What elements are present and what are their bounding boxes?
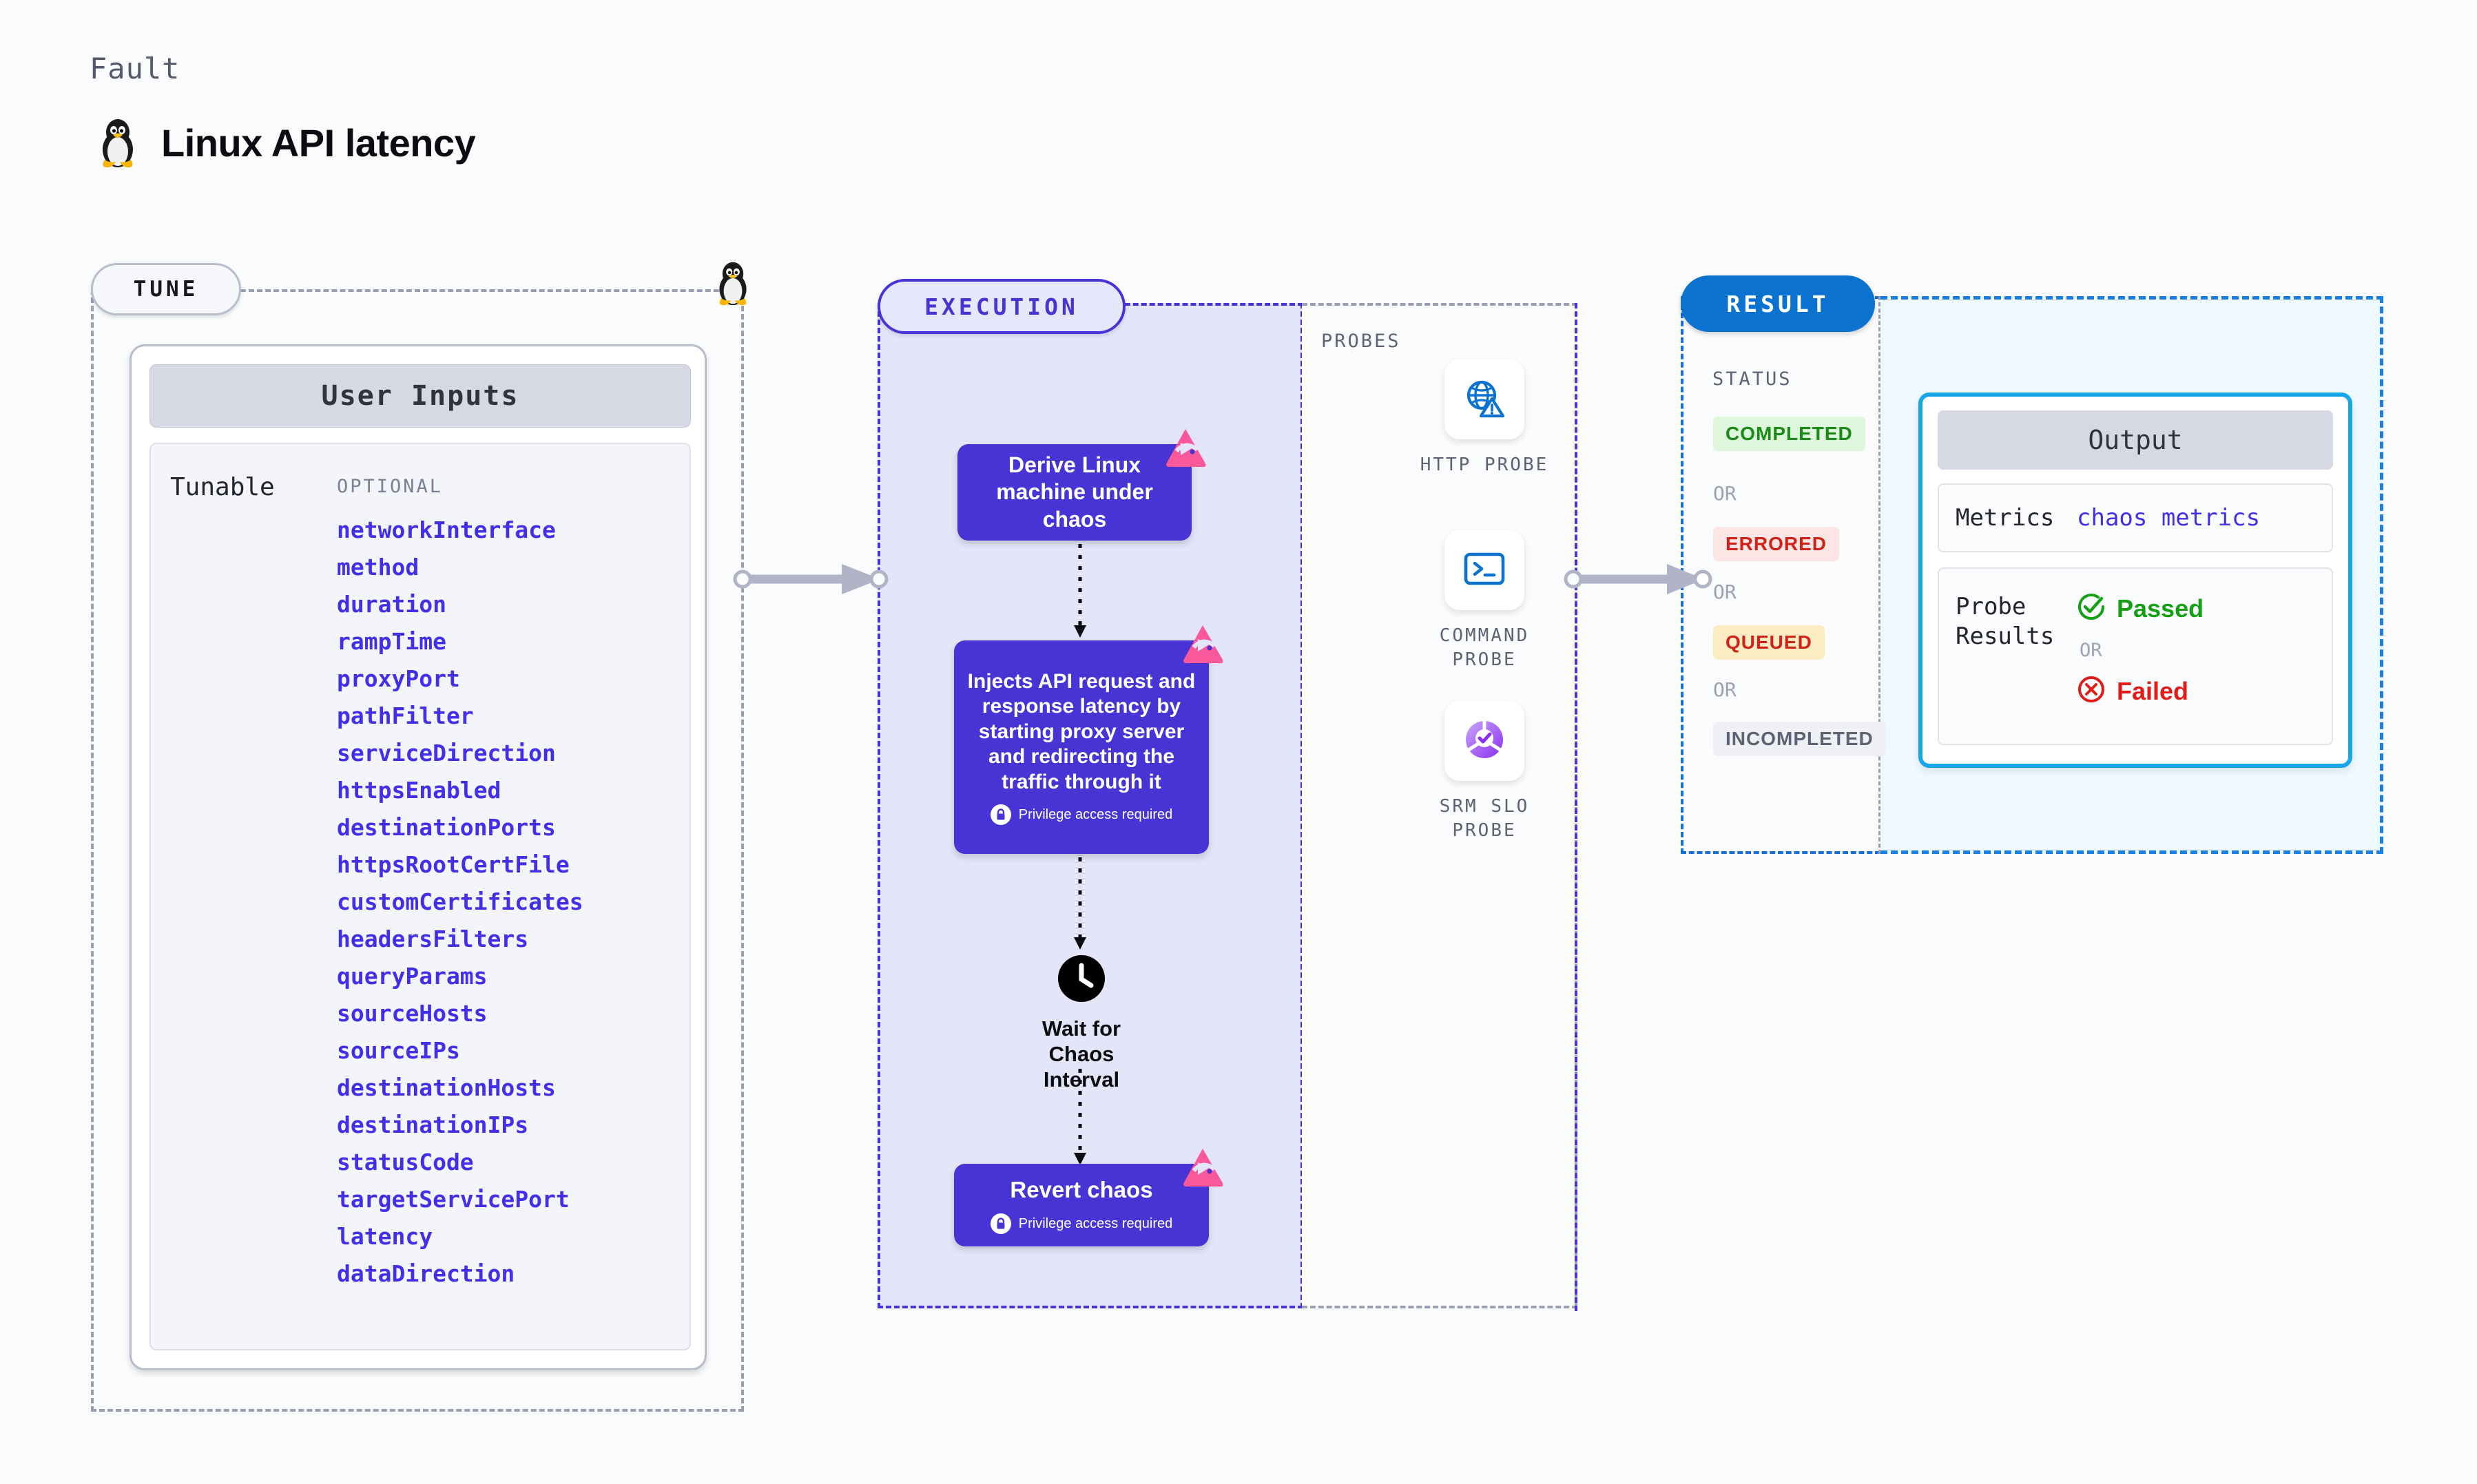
- list-item[interactable]: destinationIPs: [337, 1114, 583, 1136]
- litmus-chaos-logo-icon: [1181, 1147, 1224, 1187]
- check-circle-icon: [2077, 592, 2106, 625]
- output-card: Output Metrics chaos metrics ProbeResult…: [1918, 393, 2352, 768]
- connector-tune-to-execution: [732, 561, 897, 609]
- privilege-access-note: Privilege access required: [991, 1213, 1172, 1234]
- failed-label: Failed: [2117, 677, 2188, 706]
- connector-execution-to-result: [1562, 561, 1721, 609]
- execution-pill-label: EXECUTION: [878, 279, 1126, 334]
- linux-tux-penguin-icon: [714, 260, 752, 309]
- execution-node-label: Derive Linux machine under chaos: [957, 452, 1192, 532]
- probe-label: COMMAND PROBE: [1405, 624, 1564, 672]
- list-item[interactable]: destinationPorts: [337, 816, 583, 839]
- probes-right-edge: [1573, 303, 1577, 1311]
- list-item[interactable]: networkInterface: [337, 519, 583, 541]
- list-item[interactable]: targetServicePort: [337, 1188, 583, 1211]
- output-row-probe-results: ProbeResults Passed OR: [1938, 567, 2333, 745]
- privilege-access-label: Privilege access required: [1019, 1216, 1172, 1232]
- tunable-panel: Tunable OPTIONAL networkInterface method…: [149, 443, 691, 1350]
- linux-tux-penguin-icon: [96, 117, 139, 168]
- output-row-metrics: Metrics chaos metrics: [1938, 483, 2333, 552]
- list-item[interactable]: sourceIPs: [337, 1039, 583, 1062]
- list-item[interactable]: rampTime: [337, 630, 583, 653]
- or-separator: OR: [1713, 482, 1737, 505]
- probes-title: PROBES: [1321, 331, 1401, 352]
- or-separator: OR: [2080, 640, 2204, 661]
- probe-results-values: Passed OR Failed: [2077, 592, 2204, 707]
- probe-label: HTTP PROBE: [1420, 453, 1549, 477]
- list-item[interactable]: queryParams: [337, 965, 583, 987]
- result-pill-label: RESULT: [1681, 275, 1875, 332]
- list-item[interactable]: statusCode: [337, 1151, 583, 1173]
- chaos-metrics-link[interactable]: chaos metrics: [2077, 504, 2260, 532]
- clock-icon: [1057, 954, 1106, 1007]
- list-item[interactable]: httpsEnabled: [337, 779, 583, 802]
- list-item[interactable]: customCertificates: [337, 890, 583, 913]
- metrics-key-label: Metrics: [1939, 503, 2077, 533]
- probe-command[interactable]: COMMAND PROBE: [1405, 530, 1564, 672]
- status-badge: COMPLETED: [1713, 417, 1865, 451]
- execution-node-label: Revert chaos: [1000, 1176, 1162, 1204]
- list-item[interactable]: sourceHosts: [337, 1002, 583, 1025]
- execution-node-inject-latency[interactable]: Injects API request and response latency…: [954, 640, 1209, 854]
- probe-http[interactable]: HTTP PROBE: [1405, 359, 1564, 477]
- execution-node-derive[interactable]: Derive Linux machine under chaos: [957, 444, 1192, 541]
- list-item[interactable]: latency: [337, 1225, 583, 1248]
- status-badge: INCOMPLETED: [1713, 722, 1886, 756]
- user-inputs-card: User Inputs Tunable OPTIONAL networkInte…: [129, 344, 707, 1370]
- execution-node-revert-chaos[interactable]: Revert chaos Privilege access required: [954, 1164, 1209, 1246]
- list-item[interactable]: httpsRootCertFile: [337, 853, 583, 876]
- execution-node-label: Injects API request and response latency…: [954, 669, 1209, 795]
- flow-arrow-1: [1066, 544, 1094, 640]
- probe-result-failed: Failed: [2077, 675, 2204, 707]
- list-item[interactable]: serviceDirection: [337, 742, 583, 764]
- fault-title-row: Linux API latency: [96, 117, 475, 168]
- wait-node-label: Wait for Chaos Interval: [1019, 1016, 1143, 1093]
- fault-kicker-label: Fault: [90, 52, 180, 85]
- probe-srm-slo[interactable]: SRM SLO PROBE: [1405, 701, 1564, 843]
- probe-tile: [1444, 359, 1524, 439]
- terminal-prompt-icon: [1462, 549, 1506, 592]
- tunable-label: Tunable: [170, 473, 275, 501]
- slo-donut-check-icon: [1462, 717, 1507, 766]
- list-item[interactable]: pathFilter: [337, 704, 583, 727]
- probe-results-key-label: ProbeResults: [1939, 592, 2077, 651]
- output-title: Output: [1938, 410, 2333, 470]
- passed-label: Passed: [2117, 594, 2204, 623]
- lock-icon: [991, 804, 1011, 825]
- litmus-chaos-logo-icon: [1181, 624, 1224, 664]
- user-inputs-title: User Inputs: [149, 364, 691, 428]
- status-title: STATUS: [1712, 368, 1792, 390]
- tune-pill-label: TUNE: [91, 263, 241, 315]
- list-item[interactable]: duration: [337, 593, 583, 616]
- probe-result-passed: Passed: [2077, 592, 2204, 625]
- status-badge: ERRORED: [1713, 527, 1839, 561]
- list-item[interactable]: proxyPort: [337, 667, 583, 690]
- x-circle-icon: [2077, 675, 2106, 707]
- status-badge: QUEUED: [1713, 625, 1825, 660]
- execution-node-wait-interval[interactable]: Wait for Chaos Interval: [1019, 954, 1143, 1093]
- list-item[interactable]: destinationHosts: [337, 1076, 583, 1099]
- optional-label: OPTIONAL: [337, 476, 443, 497]
- privilege-access-label: Privilege access required: [1019, 807, 1172, 823]
- diagram-canvas: Fault Linux API latency TUNE: [0, 0, 2477, 1484]
- list-item[interactable]: method: [337, 556, 583, 578]
- probe-tile: [1444, 530, 1524, 610]
- lock-icon: [991, 1213, 1011, 1234]
- probe-label: SRM SLO PROBE: [1405, 795, 1564, 843]
- probe-tile: [1444, 701, 1524, 781]
- list-item[interactable]: dataDirection: [337, 1262, 583, 1285]
- litmus-chaos-logo-icon: [1164, 428, 1207, 468]
- or-separator: OR: [1713, 678, 1737, 701]
- page-title: Linux API latency: [161, 121, 475, 165]
- tunable-parameter-list: networkInterface method duration rampTim…: [337, 519, 583, 1285]
- list-item[interactable]: headersFilters: [337, 928, 583, 950]
- globe-warning-icon: [1462, 376, 1506, 424]
- flow-arrow-2: [1066, 857, 1094, 954]
- privilege-access-note: Privilege access required: [991, 804, 1172, 825]
